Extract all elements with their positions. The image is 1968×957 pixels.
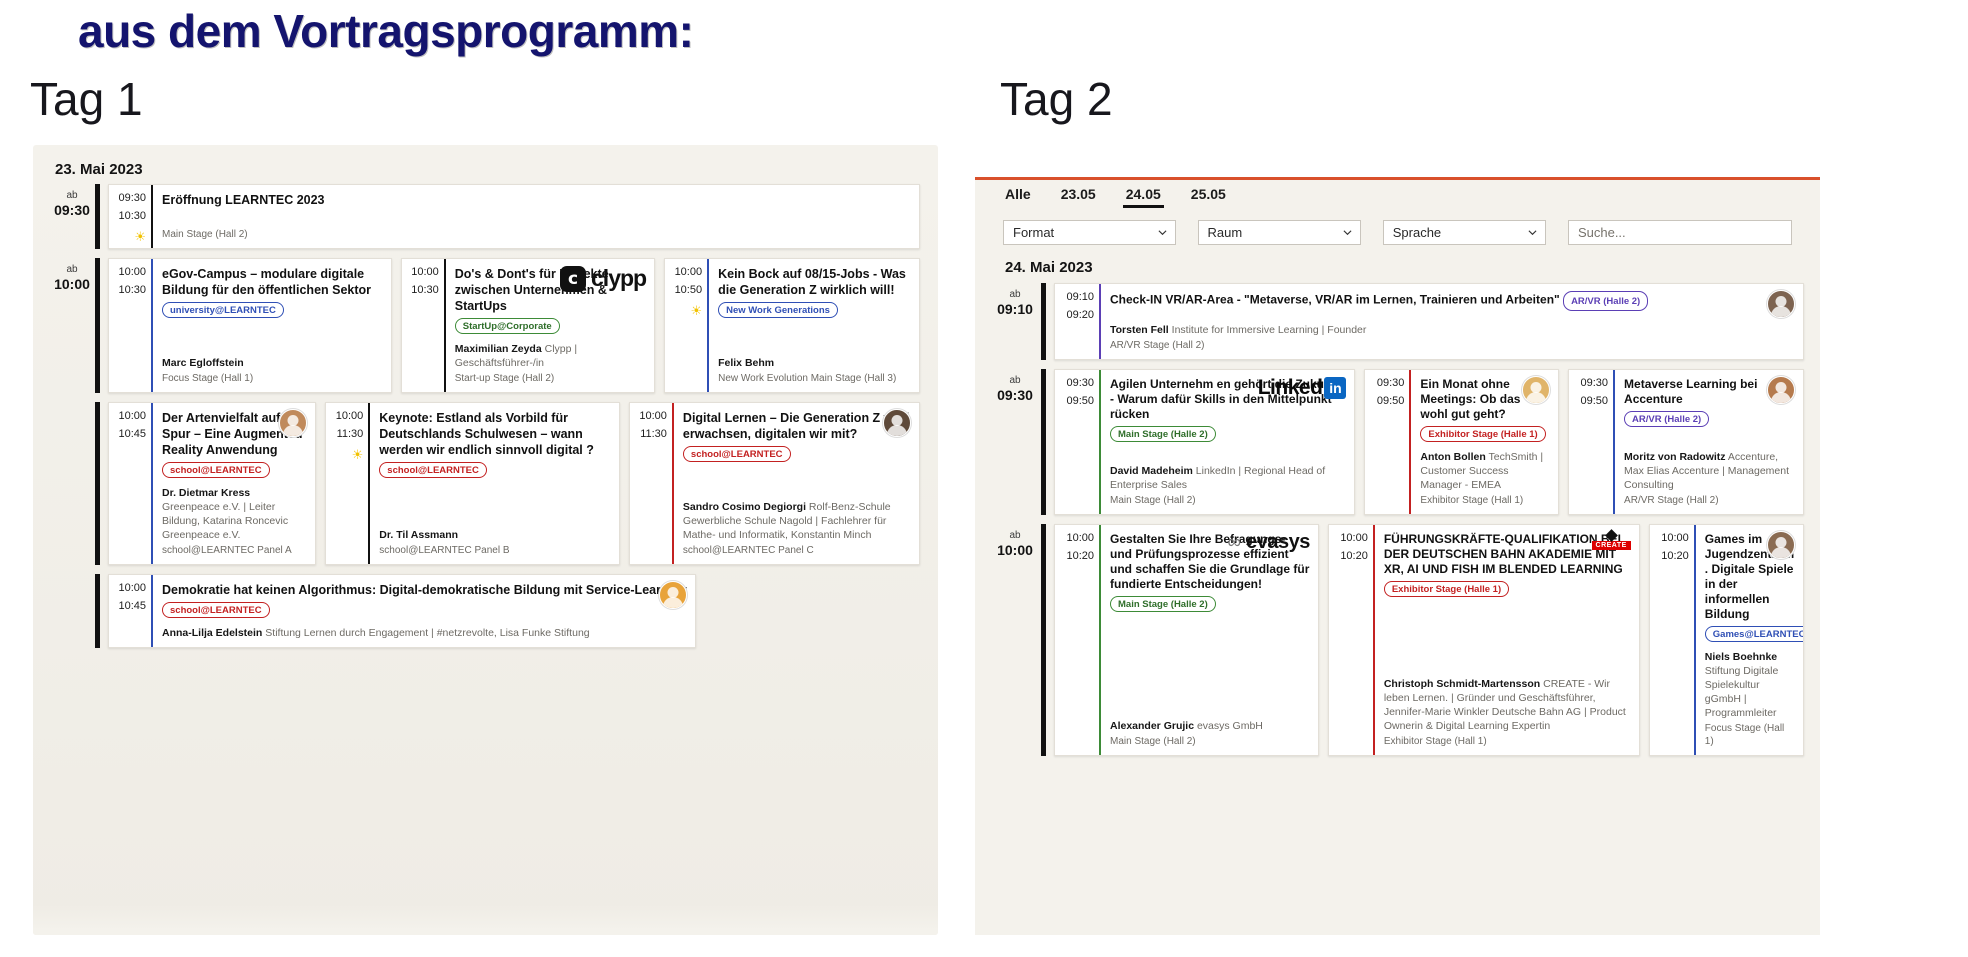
session-spacer <box>162 320 383 354</box>
avatar-wrapper <box>1767 376 1795 404</box>
row-time-value: 10:00 <box>997 542 1033 558</box>
session-body: Gestalten Sie Ihre Befragungs- und Prüfu… <box>1099 525 1318 755</box>
schedule-row: 10:0010:45Der Artenvielfalt auf der Spur… <box>33 402 938 565</box>
row-time-rail <box>95 258 100 393</box>
session-card[interactable]: 09:3009:50Metaverse Learning bei Accentu… <box>1568 369 1804 515</box>
session-card[interactable]: 10:0010:45Der Artenvielfalt auf der Spur… <box>108 402 316 565</box>
evasys-wordmark: evasys <box>1246 531 1310 554</box>
session-end-time: 09:50 <box>1581 395 1609 407</box>
avatar <box>1767 531 1795 559</box>
avatar-wrapper <box>1522 376 1550 404</box>
session-body: Keynote: Estland als Vorbild für Deutsch… <box>368 403 619 564</box>
session-start-time: 10:00 <box>1661 532 1689 544</box>
session-title: Check-IN VR/AR-Area - "Metaverse, VR/AR … <box>1110 291 1795 313</box>
date-tab-23-05[interactable]: 23.05 <box>1061 186 1096 208</box>
avatar-wrapper <box>1767 290 1795 318</box>
session-spacer <box>1110 614 1310 717</box>
schedule-row: ab09:3009:3010:30☀Eröffnung LEARNTEC 202… <box>33 184 938 249</box>
session-end-time: 10:20 <box>1661 550 1689 562</box>
schedule-row: ab09:1009:1009:20Check-IN VR/AR-Area - "… <box>975 283 1820 360</box>
avatar-wrapper <box>659 581 687 609</box>
session-end-time: 10:45 <box>118 600 146 612</box>
filter-bar: Format Raum Sprache Suche... <box>975 210 1820 245</box>
session-spacer <box>683 464 911 498</box>
session-venue: Focus Stage (Hall 1) <box>162 372 383 385</box>
day1-scroll-fade <box>33 905 938 935</box>
session-body: Digital Lernen – Die Generation Z wird e… <box>672 403 919 564</box>
row-time-prefix: ab <box>66 263 77 276</box>
session-card[interactable]: 10:0010:45Demokratie hat keinen Algorith… <box>108 574 696 648</box>
sprache-select[interactable]: Sprache <box>1383 220 1546 245</box>
row-time-prefix: ab <box>1009 529 1020 542</box>
row-cards: 09:3009:50Agilen Unternehm en gehört die… <box>1054 369 1804 515</box>
row-cards: 09:3010:30☀Eröffnung LEARNTEC 2023Main S… <box>108 184 920 249</box>
session-time-column: 09:3010:30☀ <box>109 185 151 248</box>
row-time-rail <box>1041 524 1046 756</box>
session-title: Kein Bock auf 08/15-Jobs - Was die Gener… <box>718 266 911 298</box>
session-end-time: 10:20 <box>1066 550 1094 562</box>
session-speaker: Sandro Cosimo Degiorgi Rolf-Benz-Schule … <box>683 500 911 542</box>
session-start-time: 10:00 <box>411 266 439 278</box>
schedule-row: ab10:0010:0010:20Gestalten Sie Ihre Befr… <box>975 524 1820 756</box>
row-time-prefix: ab <box>66 189 77 202</box>
lightbulb-icon: ☀ <box>352 448 364 461</box>
row-time-gutter: ab10:00 <box>989 524 1041 756</box>
row-time-gutter: ab09:10 <box>989 283 1041 360</box>
evasys-mark-icon: ∞ <box>1228 532 1242 554</box>
raum-select[interactable]: Raum <box>1198 220 1361 245</box>
session-track-badge[interactable]: school@LEARNTEC <box>162 462 270 478</box>
session-time-column: 09:3009:50 <box>1055 370 1099 514</box>
row-time-rail <box>1041 283 1046 360</box>
day1-label: Tag 1 <box>30 72 143 126</box>
session-speaker: Anton Bollen TechSmith | Customer Succes… <box>1420 450 1550 492</box>
avatar-wrapper <box>883 409 911 437</box>
session-speaker-name: Anton Bollen <box>1420 451 1485 463</box>
session-speaker: Alexander Grujic evasys GmbH <box>1110 719 1310 733</box>
session-end-time: 11:30 <box>337 428 364 440</box>
session-end-time: 10:30 <box>118 210 146 222</box>
session-card[interactable]: 09:1009:20Check-IN VR/AR-Area - "Metaver… <box>1054 283 1804 360</box>
row-cards: 10:0010:45Der Artenvielfalt auf der Spur… <box>108 402 920 565</box>
day2-date-label: 24. Mai 2023 <box>975 245 1820 283</box>
session-time-column: 10:0010:20 <box>1055 525 1099 755</box>
session-spacer <box>1110 444 1346 462</box>
session-venue: school@LEARNTEC Panel B <box>379 544 611 557</box>
session-venue: AR/VR Stage (Hall 2) <box>1110 339 1795 352</box>
session-track-badge[interactable]: school@LEARNTEC <box>379 462 487 478</box>
day2-schedule-panel: Alle23.0524.0525.05 Format Raum Sprache … <box>975 177 1820 935</box>
session-title: eGov-Campus – modulare digitale Bildung … <box>162 266 383 298</box>
session-card[interactable]: 10:0010:50☀Kein Bock auf 08/15-Jobs - Wa… <box>664 258 920 393</box>
session-card[interactable]: 10:0010:30Do's & Dont's für Projekte zwi… <box>401 258 655 393</box>
session-spacer <box>1110 317 1795 321</box>
session-venue: New Work Evolution Main Stage (Hall 3) <box>718 372 911 385</box>
session-track-badge[interactable]: university@LEARNTEC <box>162 302 284 318</box>
avatar <box>659 581 687 609</box>
row-time-gutter: ab09:30 <box>989 369 1041 515</box>
clypp-wordmark: clypp <box>591 265 646 292</box>
session-time-column: 09:1009:20 <box>1055 284 1099 359</box>
session-end-time: 10:30 <box>118 284 146 296</box>
session-body: Metaverse Learning bei AccentureAR/VR (H… <box>1613 370 1803 514</box>
day1-schedule-panel: 23. Mai 2023 ab09:3009:3010:30☀Eröffnung… <box>33 145 938 935</box>
day2-label: Tag 2 <box>1000 72 1113 126</box>
session-start-time: 10:00 <box>1066 532 1094 544</box>
session-track-badge[interactable]: New Work Generations <box>718 302 838 318</box>
chevron-down-icon <box>1528 228 1537 237</box>
avatar <box>1767 290 1795 318</box>
session-speaker: Moritz von Radowitz Accenture, Max Elias… <box>1624 450 1795 492</box>
session-spacer <box>162 480 307 484</box>
avatar-wrapper <box>279 409 307 437</box>
date-tab-label: 23.05 <box>1061 186 1096 202</box>
row-time-value: 10:00 <box>54 276 90 292</box>
schedule-row: 10:0010:45Demokratie hat keinen Algorith… <box>33 574 938 648</box>
session-speaker: Marc Egloffstein <box>162 356 383 370</box>
linkedin-logo: Linkedin <box>1258 376 1347 400</box>
session-time-column: 10:0010:45 <box>109 403 151 564</box>
session-title: Digital Lernen – Die Generation Z wird e… <box>683 410 911 442</box>
session-speaker-role: Stiftung Lernen durch Engagement | #netz… <box>262 627 589 639</box>
session-time-column: 09:3009:50 <box>1365 370 1409 514</box>
session-body: Demokratie hat keinen Algorithmus: Digit… <box>151 575 695 647</box>
session-venue: Exhibitor Stage (Hall 1) <box>1420 494 1550 507</box>
session-spacer <box>1624 429 1795 448</box>
session-speaker-name: Alexander Grujic <box>1110 720 1194 732</box>
session-speaker-name: Christoph Schmidt-Martensson <box>1384 678 1540 690</box>
session-end-time: 09:20 <box>1066 309 1094 321</box>
session-speaker: Anna-Lilja Edelstein Stiftung Lernen dur… <box>162 626 687 640</box>
session-speaker-role: Stiftung Digitale Spielekultur gGmbH | P… <box>1705 665 1779 719</box>
sprache-select-label: Sprache <box>1393 225 1441 240</box>
clypp-mark-icon: c <box>560 266 586 292</box>
date-tab-24-05[interactable]: 24.05 <box>1126 186 1161 208</box>
session-start-time: 09:30 <box>1377 377 1405 389</box>
session-time-column: 10:0010:30 <box>109 259 151 392</box>
session-body: Check-IN VR/AR-Area - "Metaverse, VR/AR … <box>1099 284 1803 359</box>
session-venue: AR/VR Stage (Hall 2) <box>1624 494 1795 507</box>
lightbulb-icon: ☀ <box>134 230 146 243</box>
row-time-value: 09:30 <box>54 202 90 218</box>
evasys-logo: ∞evasys <box>1228 531 1310 554</box>
session-start-time: 10:00 <box>118 410 146 422</box>
session-start-time: 10:00 <box>118 266 146 278</box>
day1-rows: ab09:3009:3010:30☀Eröffnung LEARNTEC 202… <box>33 184 938 648</box>
linkedin-wordmark: Linked <box>1258 376 1323 400</box>
session-body: Agilen Unternehm en gehört die Zukunft -… <box>1099 370 1354 514</box>
session-speaker-name: Anna-Lilja Edelstein <box>162 627 262 639</box>
session-card[interactable]: 10:0011:30Digital Lernen – Die Generatio… <box>629 402 920 565</box>
session-time-column: 10:0010:50☀ <box>665 259 707 392</box>
day2-scroll-fade <box>975 905 1820 935</box>
session-time-column: 10:0011:30 <box>630 403 672 564</box>
row-time-rail <box>95 184 100 249</box>
deutsche-bahn-logo: CREATE <box>1592 531 1631 550</box>
session-body: Eröffnung LEARNTEC 2023Main Stage (Hall … <box>151 185 919 248</box>
session-track-badge[interactable]: Main Stage (Halle 2) <box>1110 596 1216 612</box>
row-cards: 09:1009:20Check-IN VR/AR-Area - "Metaver… <box>1054 283 1804 360</box>
session-track-badge[interactable]: Games@LEARNTEC <box>1705 626 1804 642</box>
row-time-prefix: ab <box>1009 288 1020 301</box>
avatar-wrapper <box>1767 531 1795 559</box>
session-spacer <box>1705 644 1795 648</box>
page-title: aus dem Vortragsprogramm: <box>78 4 693 58</box>
session-card[interactable]: 09:3010:30☀Eröffnung LEARNTEC 2023Main S… <box>108 184 920 249</box>
date-tab-label: 25.05 <box>1191 186 1226 202</box>
session-card[interactable]: 10:0010:30eGov-Campus – modulare digital… <box>108 258 392 393</box>
session-body: Der Artenvielfalt auf der Spur – Eine Au… <box>151 403 315 564</box>
session-start-time: 09:30 <box>1066 377 1094 389</box>
session-venue: Focus Stage (Hall 1) <box>1705 722 1795 748</box>
session-body: Do's & Dont's für Projekte zwischen Unte… <box>444 259 654 392</box>
chevron-down-icon <box>1343 228 1352 237</box>
session-body: Ein Monat ohne Meetings: Ob das wohl gut… <box>1409 370 1558 514</box>
session-speaker: Torsten Fell Institute for Immersive Lea… <box>1110 323 1795 337</box>
session-speaker: Dr. Til Assmann <box>379 528 611 542</box>
session-spacer <box>718 320 911 354</box>
session-track-badge[interactable]: school@LEARNTEC <box>162 602 270 618</box>
session-speaker-name: Maximilian Zeyda <box>455 343 542 355</box>
session-card[interactable]: 10:0010:20Games im Jugendzentrum. Digita… <box>1649 524 1804 756</box>
session-speaker: Maximilian Zeyda Clypp | Geschäftsführer… <box>455 342 646 370</box>
row-cards: 10:0010:20Gestalten Sie Ihre Befragungs-… <box>1054 524 1804 756</box>
session-speaker-name: David Madeheim <box>1110 465 1193 477</box>
db-bar-icon: CREATE <box>1592 541 1631 550</box>
session-start-time: 10:00 <box>639 410 667 422</box>
session-venue: Main Stage (Hall 2) <box>162 228 911 241</box>
avatar <box>279 409 307 437</box>
session-speaker: David Madeheim LinkedIn | Regional Head … <box>1110 464 1346 492</box>
session-start-time: 09:30 <box>118 192 146 204</box>
avatar <box>883 409 911 437</box>
session-venue: school@LEARNTEC Panel C <box>683 544 911 557</box>
row-time-gutter: ab09:30 <box>49 184 95 249</box>
row-time-rail <box>1041 369 1046 515</box>
session-speaker-role: Institute for Immersive Learning | Found… <box>1169 324 1367 336</box>
date-tab-Alle[interactable]: Alle <box>1005 186 1031 208</box>
schedule-row: ab09:3009:3009:50Agilen Unternehm en geh… <box>975 369 1820 515</box>
session-end-time: 10:45 <box>118 428 146 440</box>
search-placeholder: Suche... <box>1578 225 1626 240</box>
day2-rows: ab09:1009:1009:20Check-IN VR/AR-Area - "… <box>975 283 1820 756</box>
session-time-column: 09:3009:50 <box>1569 370 1613 514</box>
session-venue: Main Stage (Hall 2) <box>1110 735 1310 748</box>
avatar <box>1767 376 1795 404</box>
session-speaker-name: Sandro Cosimo Degiorgi <box>683 501 806 513</box>
session-speaker-role: evasys GmbH <box>1194 720 1263 732</box>
session-track-badge[interactable]: Main Stage (Halle 2) <box>1110 426 1216 442</box>
format-select[interactable]: Format <box>1003 220 1176 245</box>
row-time-rail <box>95 402 100 565</box>
session-venue: Exhibitor Stage (Hall 1) <box>1384 735 1631 748</box>
session-body: eGov-Campus – modulare digitale Bildung … <box>151 259 391 392</box>
date-tab-label: Alle <box>1005 186 1031 202</box>
session-end-time: 11:30 <box>640 428 667 440</box>
session-track-badge[interactable]: Exhibitor Stage (Halle 1) <box>1384 581 1509 597</box>
session-end-time: 09:50 <box>1377 395 1405 407</box>
row-time-gutter <box>49 402 95 565</box>
session-time-column: 10:0010:20 <box>1650 525 1694 755</box>
session-speaker-name: Niels Boehnke <box>1705 651 1777 663</box>
session-speaker-name: Marc Egloffstein <box>162 357 244 369</box>
row-cards: 10:0010:30eGov-Campus – modulare digital… <box>108 258 920 393</box>
session-track-badge[interactable]: AR/VR (Halle 2) <box>1563 291 1648 311</box>
session-start-time: 09:10 <box>1066 291 1094 303</box>
session-spacer <box>1420 444 1550 448</box>
session-speaker: Niels Boehnke Stiftung Digitale Spieleku… <box>1705 650 1795 720</box>
session-body: Games im Jugendzentrum. Digitale Spiele … <box>1694 525 1803 755</box>
session-card[interactable]: 10:0011:30☀Keynote: Estland als Vorbild … <box>325 402 620 565</box>
format-select-label: Format <box>1013 225 1054 240</box>
session-time-column: 10:0011:30☀ <box>326 403 368 564</box>
session-end-time: 10:20 <box>1340 550 1368 562</box>
session-title: Eröffnung LEARNTEC 2023 <box>162 192 911 208</box>
schedule-row: ab10:0010:0010:30eGov-Campus – modulare … <box>33 258 938 393</box>
session-end-time: 09:50 <box>1066 395 1094 407</box>
session-speaker-name: Torsten Fell <box>1110 324 1169 336</box>
session-time-column: 10:0010:20 <box>1329 525 1373 755</box>
session-start-time: 10:00 <box>118 582 146 594</box>
session-track-badge[interactable]: AR/VR (Halle 2) <box>1624 411 1709 427</box>
session-track-badge[interactable]: school@LEARNTEC <box>683 446 791 462</box>
session-speaker-name: Dr. Til Assmann <box>379 529 458 541</box>
session-card[interactable]: 10:0010:20FÜHRUNGSKRÄFTE-QUALIFIKATION B… <box>1328 524 1640 756</box>
date-tab-label: 24.05 <box>1126 186 1161 202</box>
session-track-badge[interactable]: Exhibitor Stage (Halle 1) <box>1420 426 1545 442</box>
session-card[interactable]: 09:3009:50Agilen Unternehm en gehört die… <box>1054 369 1355 515</box>
day1-date-label: 23. Mai 2023 <box>33 145 938 184</box>
session-body: FÜHRUNGSKRÄFTE-QUALIFIKATION BEI DER DEU… <box>1373 525 1639 755</box>
session-track-badge[interactable]: StartUp@Corporate <box>455 318 560 334</box>
session-start-time: 10:00 <box>1340 532 1368 544</box>
date-tab-bar: Alle23.0524.0525.05 <box>975 180 1820 210</box>
session-end-time: 10:50 <box>675 284 703 296</box>
row-time-value: 09:10 <box>997 301 1033 317</box>
session-spacer <box>162 620 687 624</box>
session-venue: Start-up Stage (Hall 2) <box>455 372 646 385</box>
raum-select-label: Raum <box>1208 225 1243 240</box>
row-time-rail <box>95 574 100 648</box>
session-end-time: 10:30 <box>411 284 439 296</box>
session-speaker-role: Greenpeace e.V. | Leiter Bildung, Katari… <box>162 501 288 541</box>
row-time-value: 09:30 <box>997 387 1033 403</box>
session-speaker: Dr. Dietmar Kress Greenpeace e.V. | Leit… <box>162 486 307 542</box>
session-start-time: 10:00 <box>336 410 364 422</box>
row-cards: 10:0010:45Demokratie hat keinen Algorith… <box>108 574 920 648</box>
chevron-down-icon <box>1158 228 1167 237</box>
session-speaker-name: Moritz von Radowitz <box>1624 451 1726 463</box>
session-speaker-name: Dr. Dietmar Kress <box>162 487 250 499</box>
session-spacer <box>162 212 911 226</box>
session-spacer <box>455 336 646 340</box>
avatar <box>1522 376 1550 404</box>
lightbulb-icon: ☀ <box>690 304 702 317</box>
session-title: Demokratie hat keinen Algorithmus: Digit… <box>162 582 687 598</box>
session-speaker-name: Felix Behm <box>718 357 774 369</box>
session-spacer <box>379 480 611 526</box>
row-time-gutter <box>49 574 95 648</box>
session-card[interactable]: 10:0010:20Gestalten Sie Ihre Befragungs-… <box>1054 524 1319 756</box>
date-tab-25-05[interactable]: 25.05 <box>1191 186 1226 208</box>
session-venue: school@LEARNTEC Panel A <box>162 544 307 557</box>
session-time-column: 10:0010:45 <box>109 575 151 647</box>
session-speaker: Felix Behm <box>718 356 911 370</box>
search-input[interactable]: Suche... <box>1568 220 1792 245</box>
session-speaker: Christoph Schmidt-Martensson CREATE - Wi… <box>1384 677 1631 733</box>
row-time-prefix: ab <box>1009 374 1020 387</box>
linkedin-in-icon: in <box>1324 377 1346 399</box>
row-time-gutter: ab10:00 <box>49 258 95 393</box>
session-body: Kein Bock auf 08/15-Jobs - Was die Gener… <box>707 259 919 392</box>
db-diamond-icon <box>1605 529 1618 542</box>
session-card[interactable]: 09:3009:50Ein Monat ohne Meetings: Ob da… <box>1364 369 1559 515</box>
session-venue: Main Stage (Hall 2) <box>1110 494 1346 507</box>
session-start-time: 09:30 <box>1581 377 1609 389</box>
session-spacer <box>1384 599 1631 675</box>
session-start-time: 10:00 <box>675 266 703 278</box>
session-title: Keynote: Estland als Vorbild für Deutsch… <box>379 410 611 458</box>
clypp-logo: cclypp <box>560 265 646 292</box>
session-time-column: 10:0010:30 <box>402 259 444 392</box>
